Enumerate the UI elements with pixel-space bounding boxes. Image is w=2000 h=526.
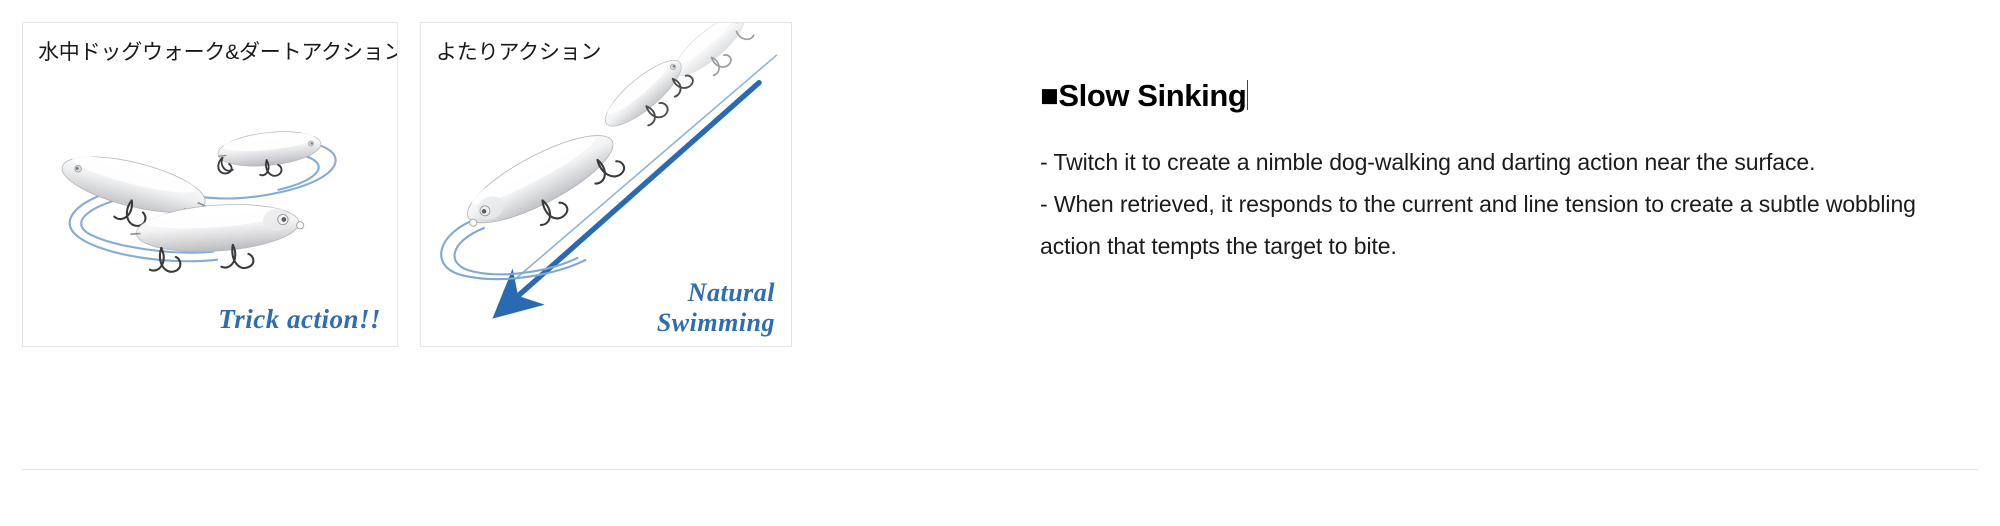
script-label-natural-swimming: Natural Swimming bbox=[657, 278, 775, 338]
bottom-divider bbox=[22, 469, 1978, 470]
page-root: 水中ドッグウォーク&ダートアクション Trick action!! bbox=[0, 0, 2000, 526]
heading-bullet-icon: ■ bbox=[1040, 78, 1058, 113]
figure-panel-trick-action: 水中ドッグウォーク&ダートアクション Trick action!! bbox=[22, 22, 398, 347]
description-body: - Twitch it to create a nimble dog-walki… bbox=[1040, 141, 1960, 267]
script-line-1: Trick action!! bbox=[218, 304, 381, 334]
description-paragraph-1: - Twitch it to create a nimble dog-walki… bbox=[1040, 141, 1960, 183]
figure-panel-yotari-action: よたりアクション Natural Swimming bbox=[420, 22, 792, 347]
heading-text: Slow Sinking bbox=[1058, 78, 1246, 113]
trick-action-illustration bbox=[23, 23, 397, 346]
description-column: ■Slow Sinking - Twitch it to create a ni… bbox=[1040, 76, 1960, 267]
script-line-2: Swimming bbox=[657, 308, 775, 338]
panel-caption-yotari: よたりアクション bbox=[436, 40, 601, 66]
script-line-1: Natural bbox=[657, 278, 775, 308]
description-paragraph-2: - When retrieved, it responds to the cur… bbox=[1040, 183, 1960, 267]
panel-caption-trick: 水中ドッグウォーク&ダートアクション bbox=[38, 40, 398, 66]
script-label-trick-action: Trick action!! bbox=[218, 304, 381, 334]
text-cursor-caret bbox=[1247, 80, 1248, 110]
slow-sinking-heading: ■Slow Sinking bbox=[1040, 76, 1248, 116]
